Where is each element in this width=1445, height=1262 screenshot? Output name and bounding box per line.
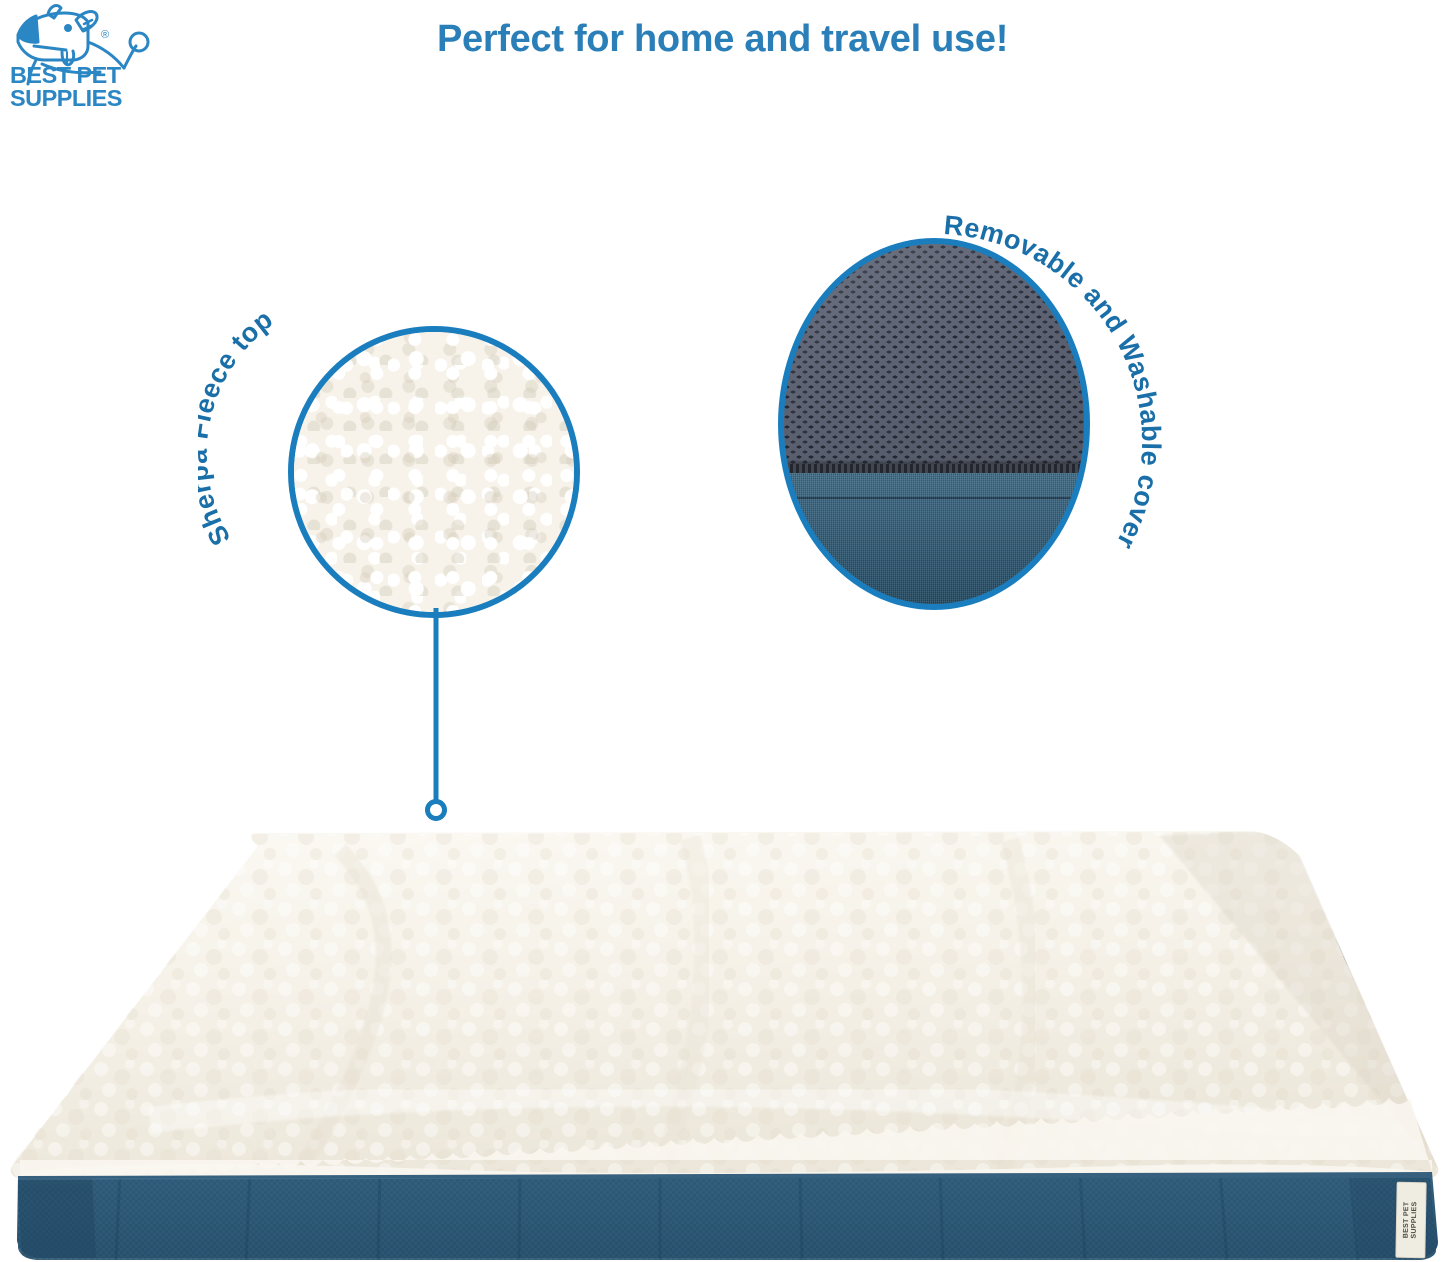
callout-circle-removable-cover bbox=[778, 238, 1090, 610]
product-tag-text: BEST PET SUPPLIES bbox=[1403, 1201, 1420, 1238]
mesh-fabric-texture bbox=[784, 244, 1084, 467]
brand-name-line1: BEST PET bbox=[10, 64, 161, 87]
sherpa-fleece-texture bbox=[294, 332, 574, 612]
blue-fabric-texture bbox=[784, 473, 1084, 604]
callout-label-text-fleece: Sherpa Fleece top bbox=[198, 304, 279, 551]
product-fabric-tag: BEST PET SUPPLIES bbox=[1395, 1182, 1426, 1259]
mesh-shading bbox=[784, 244, 1084, 467]
product-marketing-image: ® BEST PET SUPPLIES Perfect for home and… bbox=[0, 0, 1445, 1262]
dog-bed-product-image bbox=[0, 780, 1445, 1262]
svg-text:Sherpa Fleece top: Sherpa Fleece top bbox=[198, 304, 279, 551]
fabric-seam bbox=[796, 497, 1072, 499]
product-tag-line2: SUPPLIES bbox=[1411, 1201, 1419, 1238]
brand-name: BEST PET SUPPLIES bbox=[10, 64, 158, 110]
callout-circle-sherpa-fleece bbox=[288, 326, 580, 618]
brand-name-line2: SUPPLIES bbox=[10, 87, 161, 110]
product-tag-line1: BEST PET bbox=[1403, 1202, 1411, 1239]
headline-text: Perfect for home and travel use! bbox=[0, 18, 1445, 61]
bed-sherpa-top bbox=[0, 820, 1445, 1190]
